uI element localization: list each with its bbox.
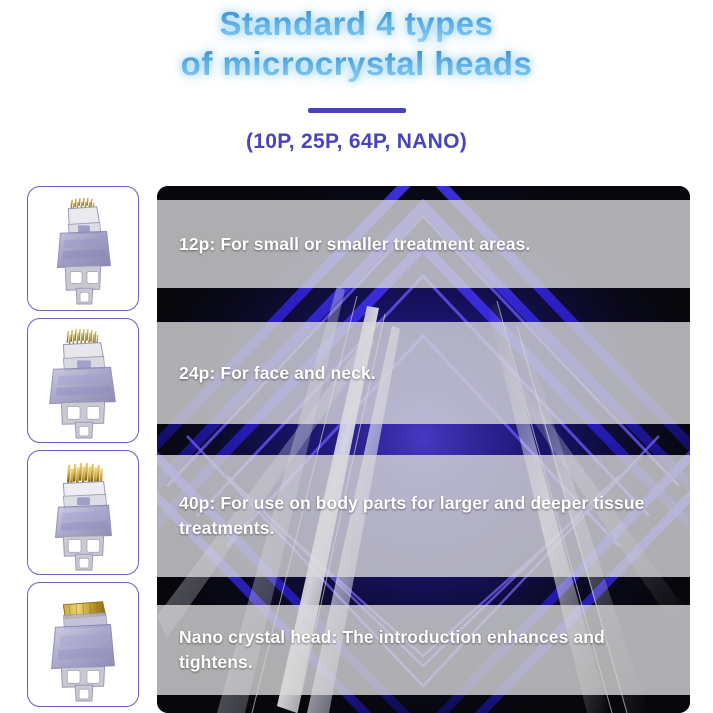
- header: Standard 4 types of microcrystal heads (…: [0, 0, 713, 186]
- description-text-nano: Nano crystal head: The introduction enha…: [179, 625, 668, 675]
- description-text-24p: 24p: For face and neck.: [179, 361, 668, 386]
- cartridge-12p-icon: [28, 187, 138, 310]
- thumbnail-cartridge-24p[interactable]: [27, 318, 139, 443]
- description-row-12p: 12p: For small or smaller treatment area…: [157, 200, 690, 288]
- description-row-40p: 40p: For use on body parts for larger an…: [157, 455, 690, 577]
- cartridge-thumbnail-list: [27, 186, 139, 713]
- subtitle: (10P, 25P, 64P, NANO): [0, 130, 713, 154]
- thumbnail-cartridge-12p[interactable]: [27, 186, 139, 311]
- description-text-12p: 12p: For small or smaller treatment area…: [179, 232, 668, 257]
- title-divider: [308, 108, 406, 113]
- thumbnail-cartridge-nano[interactable]: [27, 582, 139, 707]
- description-row-24p: 24p: For face and neck.: [157, 322, 690, 424]
- cartridge-40p-icon: [28, 451, 138, 574]
- title-line-1: Standard 4 types: [0, 4, 713, 44]
- cartridge-nano-icon: [28, 583, 138, 706]
- title-line-2: of microcrystal heads: [0, 44, 713, 84]
- page-title: Standard 4 types of microcrystal heads: [0, 4, 713, 84]
- cartridge-24p-icon: [28, 319, 138, 442]
- description-panel: 12p: For small or smaller treatment area…: [157, 186, 690, 713]
- description-row-nano: Nano crystal head: The introduction enha…: [157, 605, 690, 695]
- thumbnail-cartridge-40p[interactable]: [27, 450, 139, 575]
- description-text-40p: 40p: For use on body parts for larger an…: [179, 491, 668, 541]
- product-infographic: Standard 4 types of microcrystal heads (…: [0, 0, 713, 713]
